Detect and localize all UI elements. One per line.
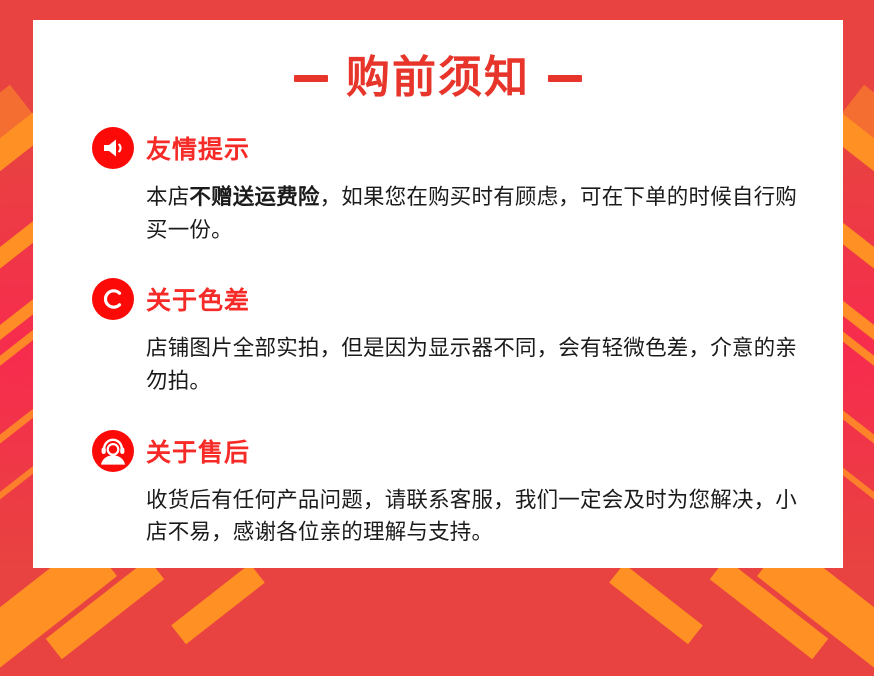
stripe-decoration (609, 564, 703, 644)
section-header: 关于色差 (92, 277, 803, 321)
title-dash-left-icon (294, 75, 328, 82)
body-suffix: 店铺图片全部实拍，但是因为显示器不同，会有轻微色差，介意的亲勿拍。 (146, 336, 797, 394)
section-after-sales: 关于售后 收货后有任何产品问题，请联系客服，我们一定会及时为您解决，小店不易，感… (92, 429, 803, 550)
sections-list: 友情提示 本店不赠送运费险，如果您在购买时有顾虑，可在下单的时候自行购买一份。 … (33, 126, 843, 550)
megaphone-speaker-icon (92, 127, 134, 169)
section-friendly-reminder: 友情提示 本店不赠送运费险，如果您在购买时有顾虑，可在下单的时候自行购买一份。 (92, 126, 803, 247)
section-header: 关于售后 (92, 429, 803, 473)
page-title: 购前须知 (346, 56, 530, 100)
section-title: 关于售后 (146, 433, 250, 469)
section-header: 友情提示 (92, 126, 803, 170)
section-color-difference: 关于色差 店铺图片全部实拍，但是因为显示器不同，会有轻微色差，介意的亲勿拍。 (92, 277, 803, 398)
page-title-row: 购前须知 (33, 56, 843, 100)
stripe-decoration (171, 564, 265, 644)
promo-banner: 购前须知 友情提示 本店不赠送运费险，如果您在购买时有顾虑，可在下单的时候自行购… (0, 0, 874, 676)
customer-service-headset-icon (92, 430, 134, 472)
section-body: 本店不赠送运费险，如果您在购买时有顾虑，可在下单的时候自行购买一份。 (146, 182, 803, 247)
section-title: 友情提示 (146, 130, 250, 166)
body-emphasis: 不赠送运费险 (189, 185, 319, 210)
section-body: 收货后有任何产品问题，请联系客服，我们一定会及时为您解决，小店不易，感谢各位亲的… (146, 485, 803, 550)
section-title: 关于色差 (146, 281, 250, 317)
title-dash-right-icon (548, 75, 582, 82)
body-prefix: 本店 (146, 185, 189, 210)
content-card: 购前须知 友情提示 本店不赠送运费险，如果您在购买时有顾虑，可在下单的时候自行购… (33, 20, 843, 568)
body-suffix: 收货后有任何产品问题，请联系客服，我们一定会及时为您解决，小店不易，感谢各位亲的… (146, 488, 797, 546)
letter-c-circle-icon (92, 278, 134, 320)
section-body: 店铺图片全部实拍，但是因为显示器不同，会有轻微色差，介意的亲勿拍。 (146, 333, 803, 398)
